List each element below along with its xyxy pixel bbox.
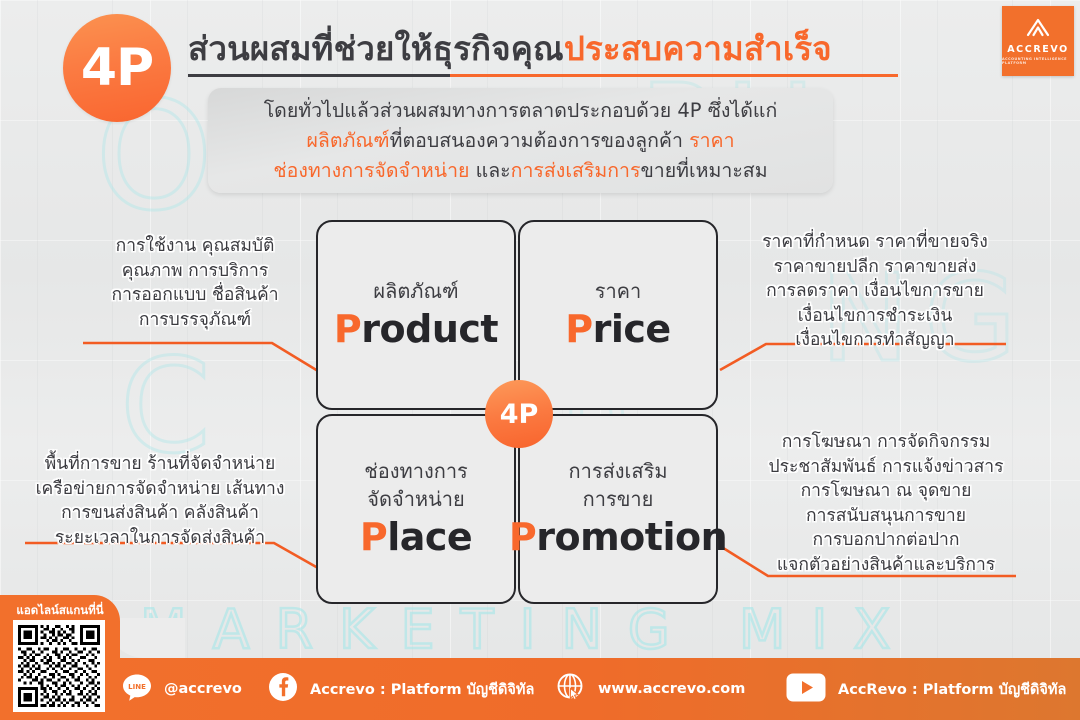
subtitle-keyword-product: ผลิตภัณฑ์ (306, 129, 389, 152)
quadrant-promotion-english: Promotion (509, 514, 727, 560)
description-price-line: เงื่อนไขการชำระเงิน (740, 304, 1010, 329)
accrevo-logo-tagline: ACCOUNTING INTELLIGENCE PLATFORM (1002, 57, 1074, 65)
globe-icon (556, 672, 586, 706)
page-title: ส่วนผสมที่ช่วยให้ธุรกิจคุณประสบความสำเร็… (188, 28, 832, 70)
line-qr-caption: แอดไลน์สแกนที่นี่ (0, 602, 120, 620)
description-promotion-line: ประชาสัมพันธ์ การแจ้งข่าวสาร (750, 455, 1022, 480)
background-watermark: MARKETING MIX (140, 598, 916, 661)
description-promotion-line: การโฆษณา ณ จุดขาย (750, 479, 1022, 504)
quadrant-promotion-thai-line1: การส่งเสริม (568, 458, 667, 484)
quadrant-promotion[interactable]: การส่งเสริม การขาย Promotion (518, 414, 718, 604)
center-4p-badge: 4P (485, 380, 553, 448)
footer-item-facebook-label: Accrevo : Platform บัญชีดิจิทัล (310, 678, 534, 701)
footer-item-line-label: @accrevo (164, 681, 242, 697)
subtitle-line-1: โดยทั่วไปแล้วส่วนผสมทางการตลาดประกอบด้วย… (264, 96, 778, 126)
subtitle-line-3: ช่องทางการจัดจำหน่าย และการส่งเสริมการขา… (273, 156, 767, 186)
subtitle-line-2-text: ที่ตอบสนองความต้องการของลูกค้า (390, 129, 690, 152)
description-place-line: การขนส่งสินค้า คลังสินค้า (12, 501, 308, 526)
subtitle-panel: โดยทั่วไปแล้วส่วนผสมทางการตลาดประกอบด้วย… (208, 88, 833, 193)
footer-item-website-label: www.accrevo.com (598, 681, 745, 697)
title-underline (188, 74, 898, 77)
quadrant-product-initial: P (334, 307, 361, 351)
subtitle-keyword-promotion: การส่งเสริมการ (511, 159, 641, 182)
description-promotion-line: การโฆษณา การจัดกิจกรรม (750, 430, 1022, 455)
title-underline-accent (450, 74, 898, 77)
quadrant-place-initial: P (360, 515, 387, 559)
quadrant-promotion-initial: P (509, 515, 536, 559)
subtitle-keyword-price: ราคา (689, 129, 734, 152)
subtitle-line-1-text: โดยทั่วไปแล้วส่วนผสมทางการตลาดประกอบด้วย… (264, 99, 778, 122)
line-icon: LINE (122, 673, 152, 706)
qr-code-image (18, 625, 100, 707)
quadrant-place[interactable]: ช่องทางการ จัดจำหน่าย Place (316, 414, 516, 604)
quadrant-place-english: Place (360, 514, 472, 560)
description-product: การใช้งาน คุณสมบัติ คุณภาพ การบริการ การ… (70, 234, 320, 332)
description-promotion-line: การสนับสนุนการขาย (750, 504, 1022, 529)
quadrant-promotion-thai-line2: การขาย (583, 486, 654, 512)
accrevo-logo[interactable]: ACCREVO ACCOUNTING INTELLIGENCE PLATFORM (1002, 6, 1074, 76)
page-title-accent: ประสบความสำเร็จ (564, 29, 832, 68)
quadrant-place-thai-line2: จัดจำหน่าย (367, 486, 464, 512)
description-product-line: การใช้งาน คุณสมบัติ (70, 234, 320, 259)
description-price-line: เงื่อนไขการทำสัญญา (740, 328, 1010, 353)
youtube-icon (786, 673, 826, 706)
description-promotion: การโฆษณา การจัดกิจกรรม ประชาสัมพันธ์ การ… (750, 430, 1022, 577)
subtitle-line-3-text-a: และ (469, 159, 510, 182)
description-place-line: เครือข่ายการจัดจำหน่าย เส้นทาง (12, 477, 308, 502)
connector-product (80, 335, 340, 375)
quadrant-price-english: Price (565, 306, 670, 352)
accrevo-logo-mark (1025, 17, 1051, 41)
header-4p-badge: 4P (63, 14, 171, 122)
footer-item-line[interactable]: LINE @accrevo (122, 673, 242, 706)
subtitle-line-3-text-b: ขายที่เหมาะสม (640, 159, 767, 182)
quadrant-product-rest: roduct (361, 307, 498, 351)
subtitle-line-2: ผลิตภัณฑ์ที่ตอบสนองความต้องการของลูกค้า … (306, 126, 734, 156)
line-qr-code[interactable] (13, 620, 105, 712)
line-qr-panel[interactable]: แอดไลน์สแกนที่นี่ (0, 595, 120, 720)
quadrant-price-initial: P (565, 307, 592, 351)
description-product-line: การบรรจุภัณฑ์ (70, 308, 320, 333)
quadrant-product-thai: ผลิตภัณฑ์ (373, 278, 458, 304)
quadrant-place-rest: lace (387, 515, 472, 559)
quadrant-product[interactable]: ผลิตภัณฑ์ Product (316, 220, 516, 410)
description-place: พื้นที่การขาย ร้านที่จัดจำหน่าย เครือข่า… (12, 452, 308, 550)
center-4p-label: 4P (500, 399, 539, 430)
infographic-canvas: O C PU NG R MARKETING MIX 4P ส่วนผสมที่ช… (0, 0, 1080, 720)
footer-item-youtube-label: AccRevo : Platform บัญชีดิจิทัล (838, 678, 1066, 701)
accrevo-logo-name: ACCREVO (1007, 44, 1069, 55)
quadrant-product-english: Product (334, 306, 498, 352)
footer-item-facebook[interactable]: Accrevo : Platform บัญชีดิจิทัล (268, 672, 534, 706)
header-4p-badge-label: 4P (81, 38, 153, 98)
description-price-line: ราคาขายปลีก ราคาขายส่ง (740, 255, 1010, 280)
quadrant-price-thai: ราคา (595, 278, 642, 304)
footer-item-website[interactable]: www.accrevo.com (556, 672, 745, 706)
page-title-primary: ส่วนผสมที่ช่วยให้ธุรกิจคุณ (188, 29, 564, 68)
quadrant-price[interactable]: ราคา Price (518, 220, 718, 410)
title-underline-dark (188, 74, 450, 77)
facebook-icon (268, 672, 298, 706)
subtitle-keyword-place: ช่องทางการจัดจำหน่าย (273, 159, 469, 182)
quadrant-place-thai-line1: ช่องทางการ (364, 458, 468, 484)
description-price-line: การลดราคา เงื่อนไขการขาย (740, 279, 1010, 304)
description-price: ราคาที่กำหนด ราคาที่ขายจริง ราคาขายปลีก … (740, 230, 1010, 353)
quadrant-promotion-rest: romotion (536, 515, 727, 559)
description-product-line: คุณภาพ การบริการ (70, 259, 320, 284)
description-product-line: การออกแบบ ชื่อสินค้า (70, 283, 320, 308)
footer-item-youtube[interactable]: AccRevo : Platform บัญชีดิจิทัล (786, 673, 1066, 706)
description-promotion-line: แจกตัวอย่างสินค้าและบริการ (750, 553, 1022, 578)
svg-text:LINE: LINE (128, 683, 146, 691)
quadrant-price-rest: rice (593, 307, 671, 351)
description-place-line: พื้นที่การขาย ร้านที่จัดจำหน่าย (12, 452, 308, 477)
footer-bar: LINE @accrevo Accrevo : Platform บัญชีดิ… (0, 658, 1080, 720)
description-promotion-line: การบอกปากต่อปาก (750, 528, 1022, 553)
description-place-line: ระยะเวลาในการจัดส่งสินค้า (12, 526, 308, 551)
description-price-line: ราคาที่กำหนด ราคาที่ขายจริง (740, 230, 1010, 255)
